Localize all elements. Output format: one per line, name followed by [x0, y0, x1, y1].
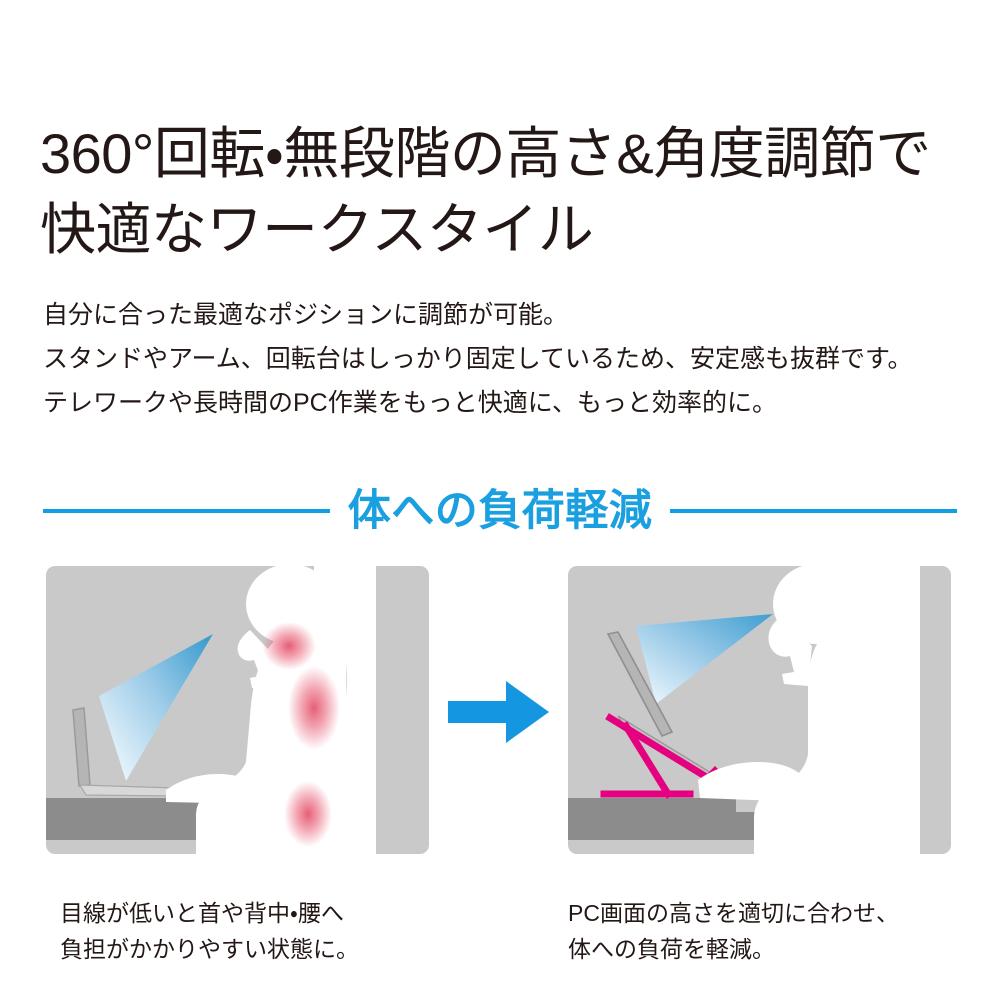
hunched-posture-low-laptop-illustration: [46, 566, 429, 854]
after-caption-line-1: PC画面の高さを適切に合わせ、: [568, 895, 968, 931]
after-panel: [568, 566, 951, 854]
arrow-right-icon: [448, 681, 549, 743]
after-caption: PC画面の高さを適切に合わせ、 体への負荷を軽減。: [568, 895, 968, 967]
comparison-panels: [46, 566, 955, 854]
lead-line-2: スタンドやアーム、回転台はしっかり固定しているため、安定感も抜群です。: [43, 337, 973, 381]
section-heading: 体への負荷軽減: [43, 478, 957, 544]
upright-posture-raised-laptop-stand-illustration: [568, 566, 951, 854]
before-caption: 目線が低いと首や背中・腰へ 負担がかかりやすい状態に。: [60, 895, 460, 967]
rule-left: [43, 509, 330, 513]
before-panel: [46, 566, 429, 854]
lead-line-1: 自分に合った最適なポジションに調節が可能。: [43, 293, 973, 337]
panel-captions: 目線が低いと首や背中・腰へ 負担がかかりやすい状態に。 PC画面の高さを適切に合…: [46, 872, 955, 962]
section-heading-label: 体への負荷軽減: [348, 485, 653, 537]
after-caption-line-2: 体への負荷を軽減。: [568, 931, 968, 967]
page-title: 360°回転・無段階の高さ&角度調節で 快適なワークスタイル: [40, 116, 980, 268]
page-title-line-1: 360°回転・無段階の高さ&角度調節で: [40, 116, 980, 192]
marketing-page: 360°回転・無段階の高さ&角度調節で 快適なワークスタイル 自分に合った最適な…: [0, 0, 1000, 999]
rule-right: [670, 509, 957, 513]
lead-line-3: テレワークや長時間のPC作業をもっと快適に、もっと効率的に。: [43, 381, 973, 425]
lead-paragraph: 自分に合った最適なポジションに調節が可能。 スタンドやアーム、回転台はしっかり固…: [43, 293, 973, 425]
before-caption-line-1: 目線が低いと首や背中・腰へ: [60, 895, 460, 931]
before-caption-line-2: 負担がかかりやすい状態に。: [60, 931, 460, 967]
page-title-line-2: 快適なワークスタイル: [40, 192, 980, 268]
